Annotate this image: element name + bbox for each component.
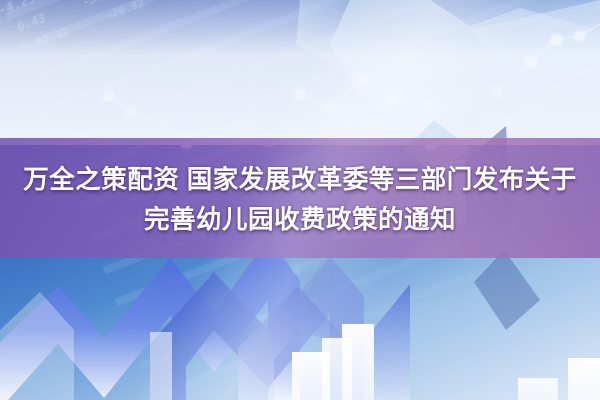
banner-image: -50.02-02.36+15.02-11.25-02.3621.05-02.3… xyxy=(0,0,600,400)
headline-line-1: 万全之策配资 国家发展改革委等三部门发布关于 xyxy=(23,162,577,198)
headline-line-2: 完善幼儿园收费政策的通知 xyxy=(144,202,456,238)
headline-block: 万全之策配资 国家发展改革委等三部门发布关于 完善幼儿园收费政策的通知 xyxy=(0,150,600,250)
